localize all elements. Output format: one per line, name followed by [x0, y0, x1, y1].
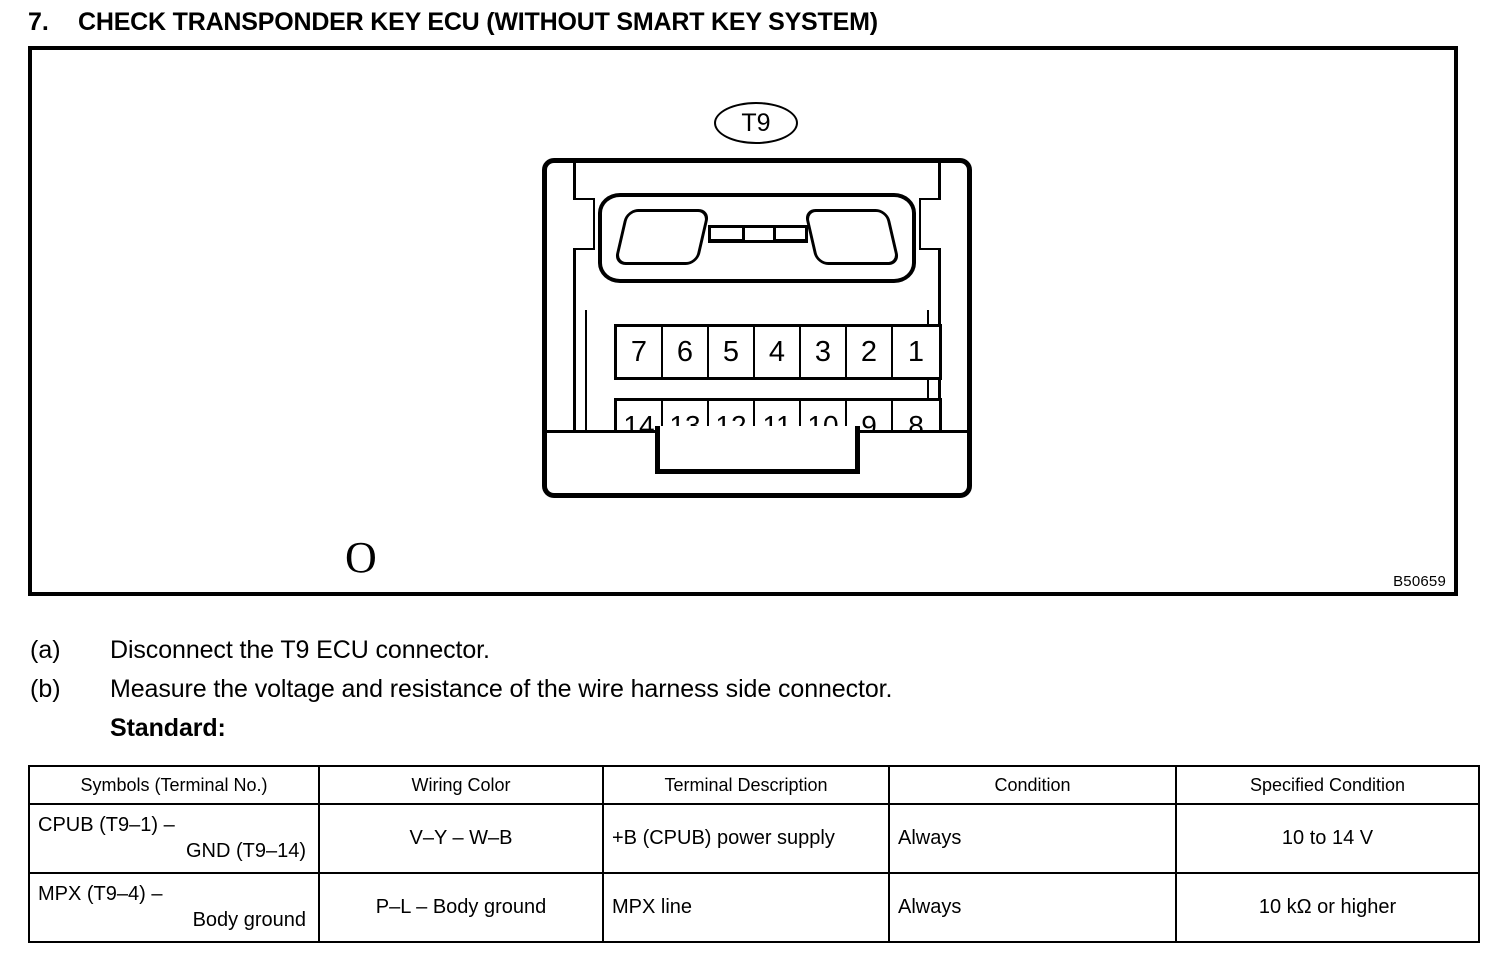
symbol-line-secondary: Body ground: [38, 908, 310, 934]
pin-cell: 5: [709, 327, 755, 377]
connector-side-tab-left: [573, 198, 595, 250]
cell-specified-condition: 10 to 14 V: [1176, 804, 1479, 873]
section-number: 7.: [0, 8, 78, 37]
instruction-item-standard: Standard:: [0, 714, 1504, 753]
column-header-specified-condition: Specified Condition: [1176, 766, 1479, 804]
cell-terminal-description: MPX line: [603, 873, 889, 942]
instruction-item-b: (b) Measure the voltage and resistance o…: [0, 675, 1504, 714]
instruction-marker: (a): [0, 636, 110, 665]
standard-label: Standard:: [110, 714, 226, 743]
figure-id: B50659: [1393, 573, 1446, 590]
pin-cell: 4: [755, 327, 801, 377]
connector-label-text: T9: [741, 109, 770, 138]
cell-specified-condition: 10 kΩ or higher: [1176, 873, 1479, 942]
instruction-item-a: (a) Disconnect the T9 ECU connector.: [0, 636, 1504, 675]
cell-symbols: CPUB (T9–1) – GND (T9–14): [29, 804, 319, 873]
symbol-line-secondary: GND (T9–14): [38, 839, 310, 865]
pin-cell: 7: [617, 327, 663, 377]
connector-latch: [598, 193, 916, 283]
cell-condition: Always: [889, 873, 1176, 942]
section-heading: 7. CHECK TRANSPONDER KEY ECU (WITHOUT SM…: [0, 2, 1504, 42]
column-header-symbols: Symbols (Terminal No.): [29, 766, 319, 804]
latch-hole-left: [614, 209, 711, 265]
table-header-row: Symbols (Terminal No.) Wiring Color Term…: [29, 766, 1479, 804]
pin-cell: 1: [893, 327, 939, 377]
latch-hole-right: [804, 209, 901, 265]
skirt-center-notch: [655, 426, 860, 474]
column-header-terminal-description: Terminal Description: [603, 766, 889, 804]
cell-wiring-color: V–Y – W–B: [319, 804, 603, 873]
standard-table: Symbols (Terminal No.) Wiring Color Term…: [28, 765, 1480, 943]
instruction-text: Measure the voltage and resistance of th…: [110, 675, 892, 704]
column-header-condition: Condition: [889, 766, 1176, 804]
orientation-mark: O: [345, 536, 377, 580]
instruction-list: (a) Disconnect the T9 ECU connector. (b)…: [0, 636, 1504, 753]
table-row: CPUB (T9–1) – GND (T9–14) V–Y – W–B +B (…: [29, 804, 1479, 873]
cell-wiring-color: P–L – Body ground: [319, 873, 603, 942]
page-title: CHECK TRANSPONDER KEY ECU (WITHOUT SMART…: [78, 8, 878, 37]
cell-symbols: MPX (T9–4) – Body ground: [29, 873, 319, 942]
connector-figure: T9 7 6 5 4 3 2 1 14 13: [28, 46, 1458, 596]
connector-bottom-skirt: [542, 430, 972, 498]
column-header-wiring-color: Wiring Color: [319, 766, 603, 804]
connector-side-tab-right: [919, 198, 941, 250]
instruction-marker: (b): [0, 675, 110, 704]
pin-row-top: 7 6 5 4 3 2 1: [614, 324, 942, 380]
symbol-line-primary: CPUB (T9–1) –: [38, 813, 310, 839]
instruction-text: Disconnect the T9 ECU connector.: [110, 636, 490, 665]
latch-nub: [742, 225, 776, 243]
connector-label-t9: T9: [714, 102, 798, 144]
connector-drawing: 7 6 5 4 3 2 1 14 13 12 11 10 9 8: [542, 158, 972, 503]
pin-cell: 3: [801, 327, 847, 377]
table-row: MPX (T9–4) – Body ground P–L – Body grou…: [29, 873, 1479, 942]
cell-condition: Always: [889, 804, 1176, 873]
symbol-line-primary: MPX (T9–4) –: [38, 882, 310, 908]
cell-terminal-description: +B (CPUB) power supply: [603, 804, 889, 873]
pin-cell: 2: [847, 327, 893, 377]
pin-cell: 6: [663, 327, 709, 377]
